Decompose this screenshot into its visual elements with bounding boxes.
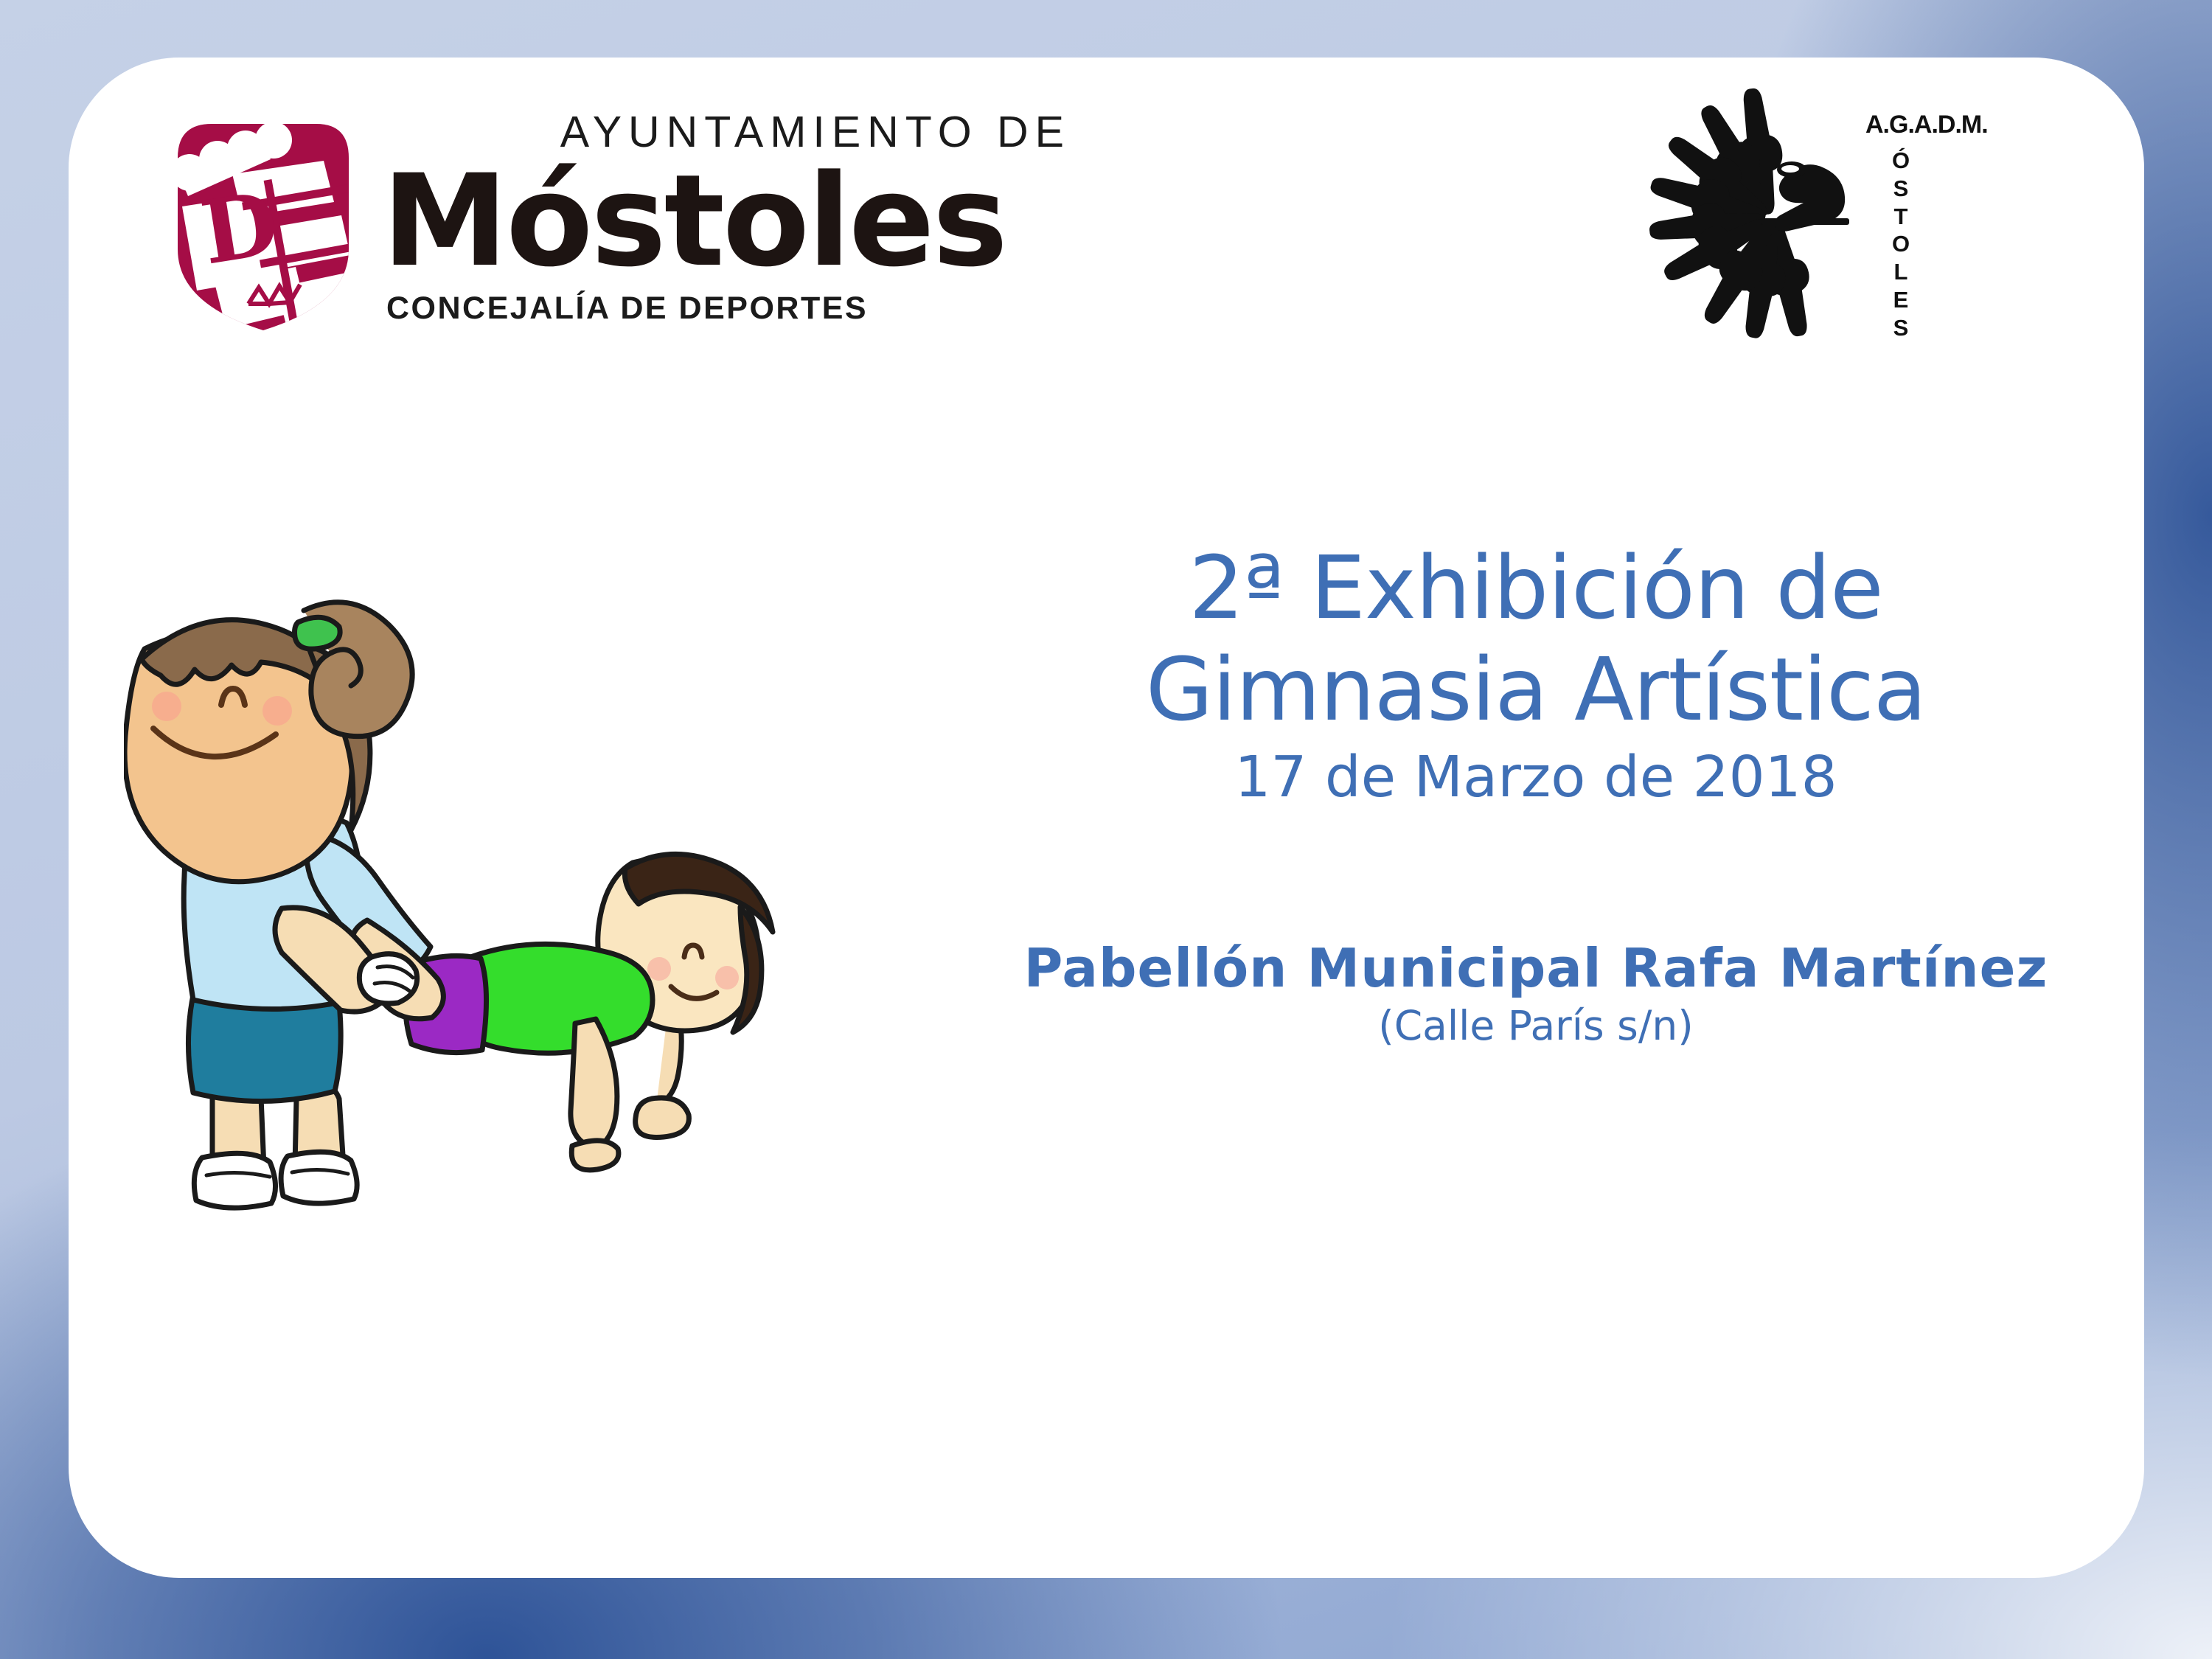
agadm-mostoles-logo: A.G.A.D.M. Ó S T O L E S — [1635, 58, 1938, 360]
agadm-abbreviation: A.G.A.D.M. — [1865, 111, 1919, 139]
slide-background: D AYUNTAMIENTO DE Móstoles — [0, 0, 2212, 1659]
svg-text:D: D — [195, 171, 285, 284]
agadm-letter: T — [1874, 203, 1927, 231]
page-title: 2ª Exhibición de Gimnasia Artística — [961, 537, 2111, 740]
agadm-letter: S — [1874, 314, 1927, 342]
page-title-line2: Gimnasia Artística — [961, 639, 2111, 740]
slide-white-card: D AYUNTAMIENTO DE Móstoles — [69, 58, 2144, 1578]
venue-name: Pabellón Municipal Rafa Martínez — [961, 936, 2111, 1000]
concejalia-deportes-line: CONCEJALÍA DE DEPORTES — [386, 291, 1075, 327]
event-text-block: 2ª Exhibición de Gimnasia Artística 17 d… — [961, 537, 2111, 1050]
mostoles-line: Móstoles — [382, 160, 1075, 283]
agadm-vertical-text: Ó S T O L E S — [1874, 147, 1927, 342]
venue-address: (Calle París s/n) — [961, 1001, 2111, 1050]
page-title-line1: 2ª Exhibición de — [961, 537, 2111, 639]
agadm-letter: L — [1874, 258, 1927, 286]
agadm-text-block: A.G.A.D.M. Ó S T O L E S — [1874, 111, 1927, 342]
mostoles-wordmark: AYUNTAMIENTO DE Móstoles CONCEJALÍA DE D… — [382, 111, 1075, 327]
mostoles-logo: D AYUNTAMIENTO DE Móstoles — [172, 111, 1079, 347]
two-children-gymnastics-clipart — [124, 574, 920, 1222]
agadm-letter: O — [1874, 230, 1927, 258]
agadm-letter: Ó — [1874, 147, 1927, 175]
agadm-letter: E — [1874, 286, 1927, 314]
escudo-mostoles-icon: D — [172, 119, 355, 333]
agadm-letter: S — [1874, 175, 1927, 203]
header-logos-band: D AYUNTAMIENTO DE Móstoles — [69, 58, 2144, 375]
event-date: 17 de Marzo de 2018 — [961, 743, 2111, 813]
